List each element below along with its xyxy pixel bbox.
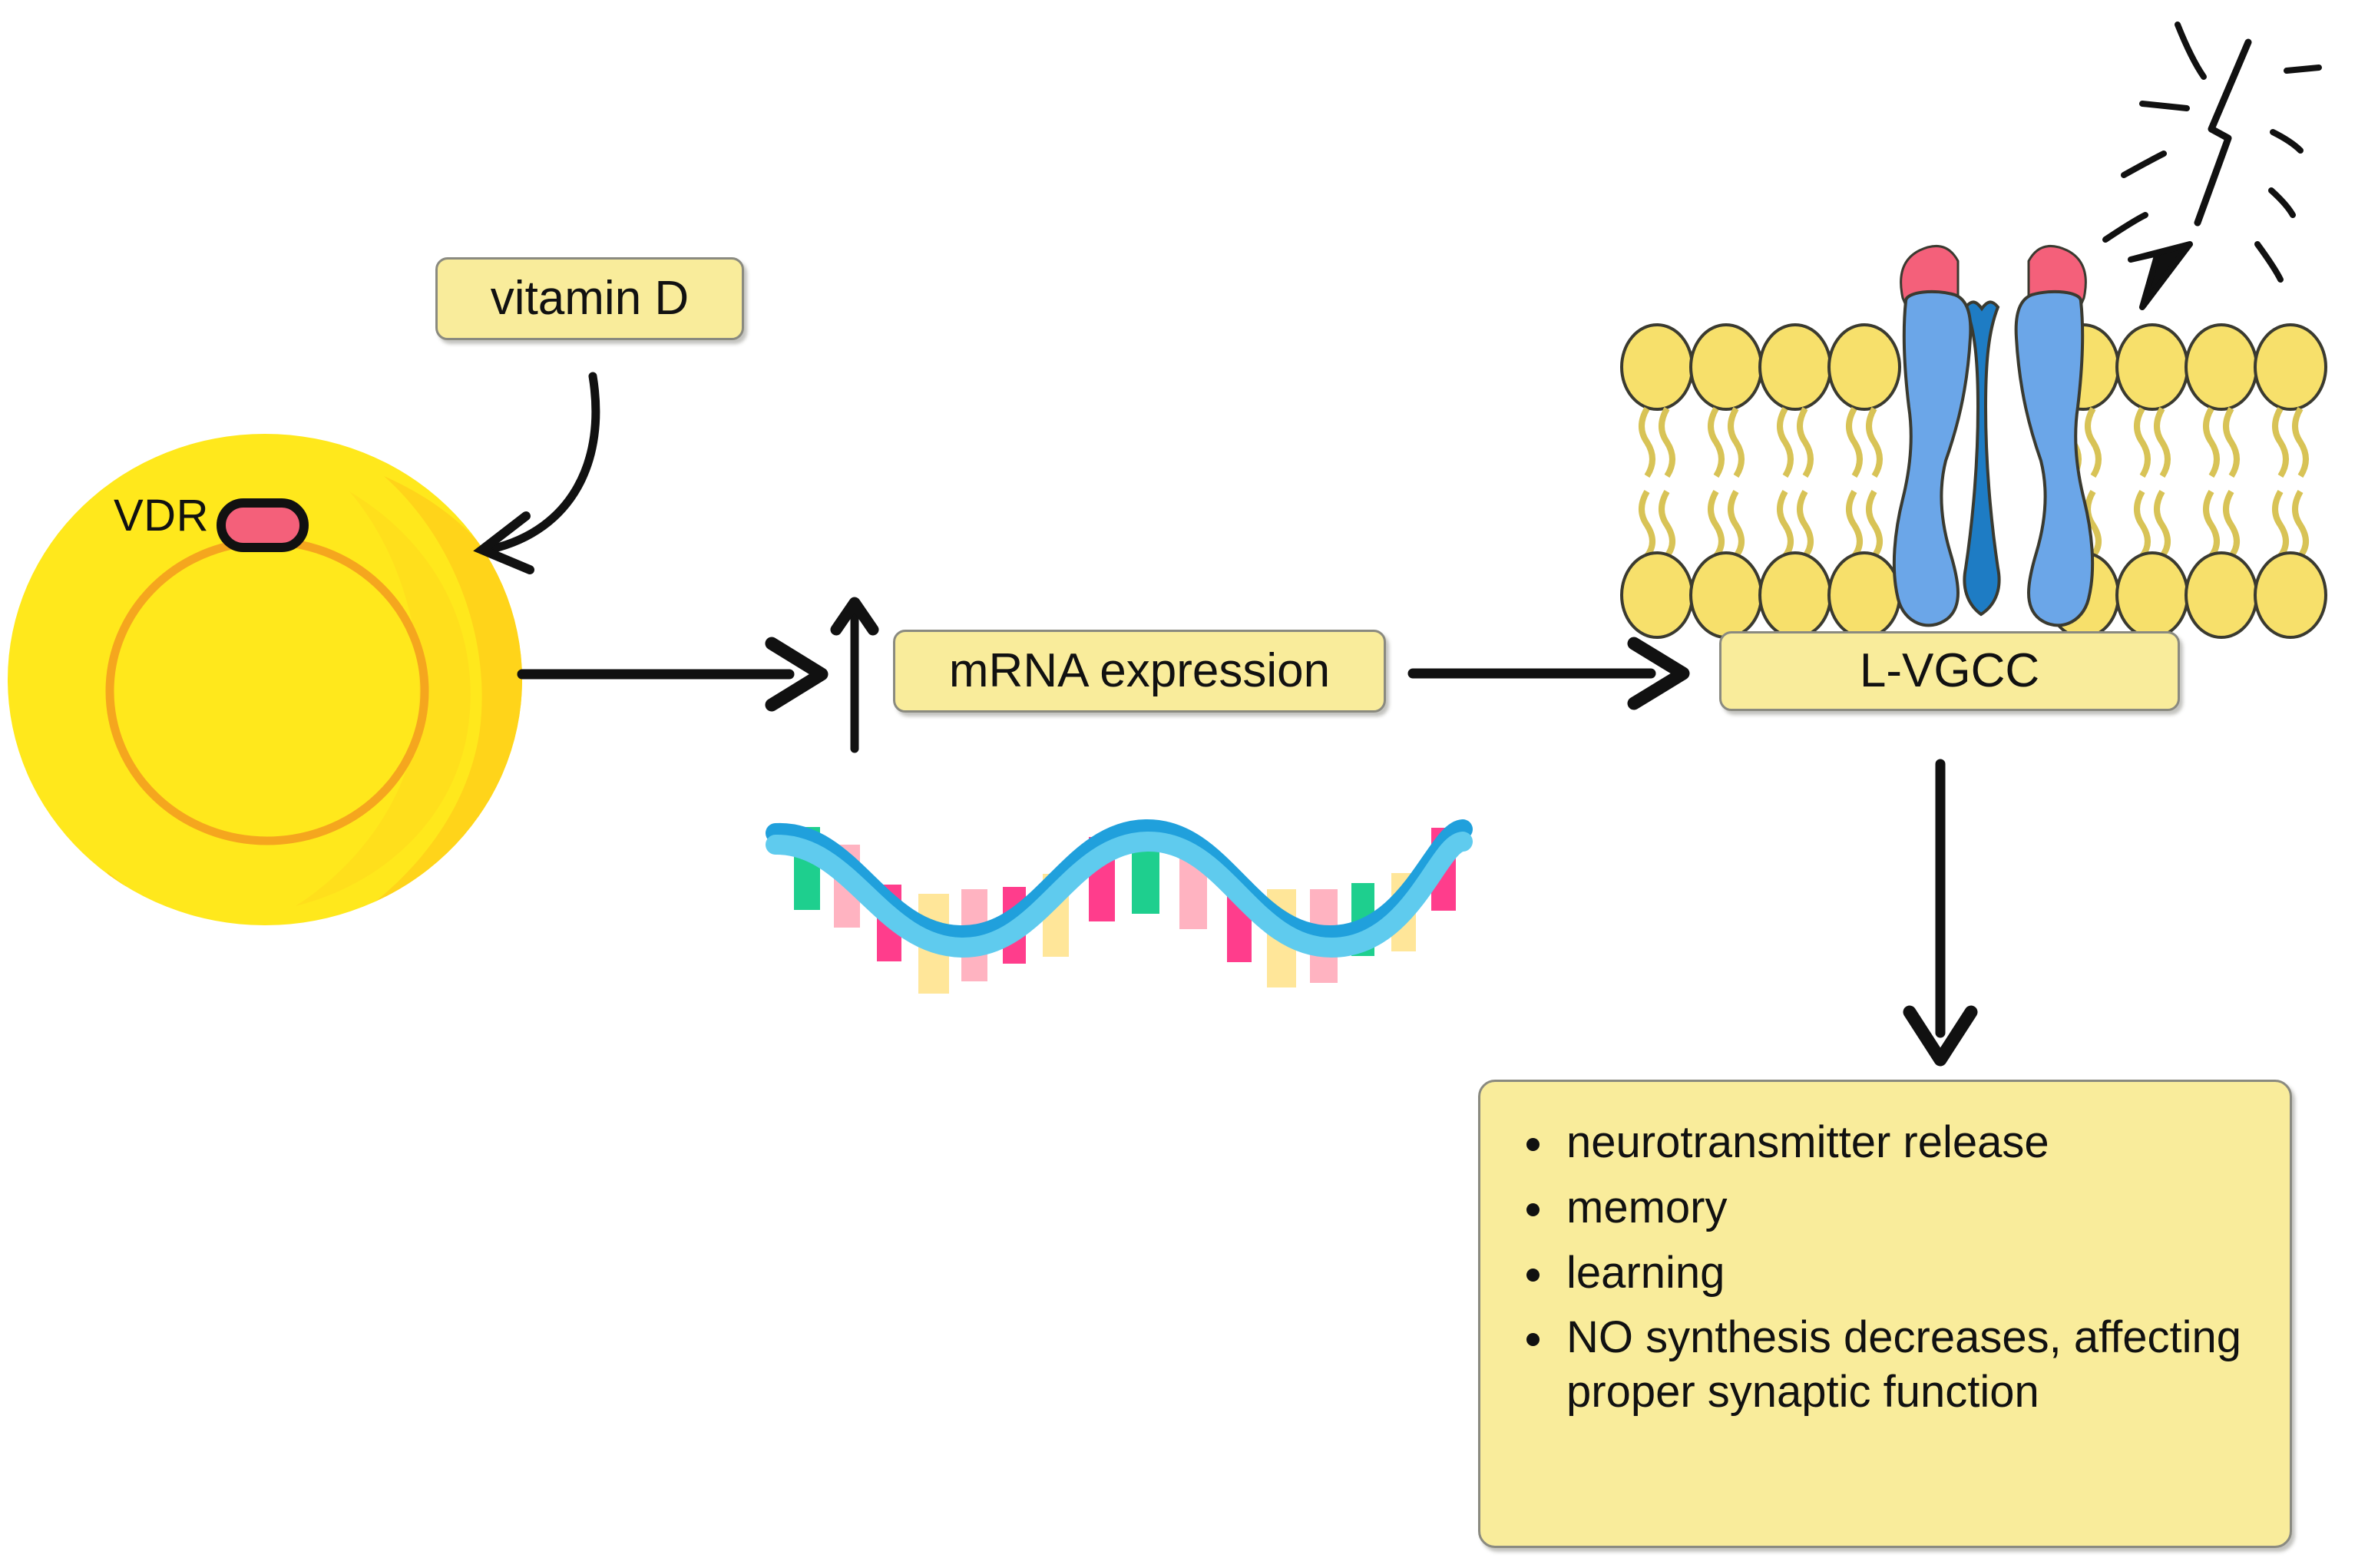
bullet-icon bbox=[1526, 1333, 1540, 1346]
effects-list: neurotransmitter release memory learning… bbox=[1513, 1116, 2259, 1420]
effect-text: NO synthesis decreases, affecting proper… bbox=[1566, 1312, 2241, 1417]
lvgcc-box[interactable]: L-VGCC bbox=[1719, 631, 2180, 711]
list-item: learning bbox=[1513, 1246, 2259, 1301]
membrane-graphic bbox=[1622, 246, 2326, 637]
lightning-bolt-arrow-icon bbox=[2105, 25, 2319, 307]
arrow-mrna-increase bbox=[836, 603, 873, 749]
spark-rays bbox=[2105, 25, 2319, 280]
phospholipid-left-3 bbox=[1760, 325, 1831, 637]
channel-subunit-left bbox=[1894, 292, 1971, 626]
bullet-icon bbox=[1526, 1138, 1540, 1151]
phospholipid-left-1 bbox=[1622, 325, 1692, 637]
dna-strand-back bbox=[776, 829, 1463, 935]
effect-text: neurotransmitter release bbox=[1566, 1117, 2049, 1167]
phospholipid-right-4 bbox=[2255, 325, 2326, 637]
bullet-icon bbox=[1526, 1203, 1540, 1216]
phospholipid-right-1 bbox=[2048, 325, 2118, 637]
lvgcc-label: L-VGCC bbox=[1860, 641, 2039, 701]
mrna-expression-box[interactable]: mRNA expression bbox=[893, 630, 1386, 713]
dna-helix-graphic bbox=[776, 827, 1463, 994]
arrow-vitamin-d-to-cell bbox=[482, 376, 596, 570]
phospholipid-right-2 bbox=[2117, 325, 2188, 637]
lvgcc-channel-icon bbox=[1894, 246, 2092, 625]
arrow-mrna-to-lvgcc bbox=[1413, 643, 1683, 703]
cell-shade-outer bbox=[322, 476, 541, 937]
channel-cap-right bbox=[2029, 246, 2085, 309]
cell-graphic bbox=[8, 434, 541, 971]
channel-pore bbox=[1964, 302, 1999, 614]
cell-shade-inner bbox=[296, 491, 471, 906]
cell-shade-bottom bbox=[107, 872, 384, 971]
effects-box[interactable]: neurotransmitter release memory learning… bbox=[1478, 1080, 2292, 1548]
arrow-lvgcc-to-effects bbox=[1910, 764, 1971, 1060]
phospholipid-left-2 bbox=[1691, 325, 1761, 637]
effect-text: learning bbox=[1566, 1248, 1725, 1298]
channel-cap-left bbox=[1901, 246, 1958, 309]
dna-base-pairs bbox=[794, 827, 1456, 994]
phospholipid-left-4 bbox=[1829, 325, 1900, 637]
diagram-canvas: VDR vitamin D mRNA expression L-VGCC neu… bbox=[0, 0, 2378, 1568]
arrow-cell-to-mrna bbox=[522, 643, 822, 705]
channel-subunit-right bbox=[2016, 292, 2093, 626]
vdr-receptor-icon bbox=[221, 503, 304, 547]
vdr-label: VDR bbox=[114, 490, 209, 541]
phospholipid-right-3 bbox=[2186, 325, 2257, 637]
list-item: memory bbox=[1513, 1181, 2259, 1236]
vitamin-d-box[interactable]: vitamin D bbox=[435, 257, 744, 340]
vitamin-d-label: vitamin D bbox=[491, 269, 689, 329]
mrna-expression-label: mRNA expression bbox=[949, 641, 1330, 701]
list-item: neurotransmitter release bbox=[1513, 1116, 2259, 1170]
cell-body bbox=[8, 434, 522, 925]
effect-text: memory bbox=[1566, 1183, 1727, 1232]
dna-strand-front bbox=[776, 842, 1463, 948]
bullet-icon bbox=[1526, 1269, 1540, 1282]
list-item: NO synthesis decreases, affecting proper… bbox=[1513, 1311, 2259, 1420]
nucleus-outline bbox=[110, 541, 425, 841]
